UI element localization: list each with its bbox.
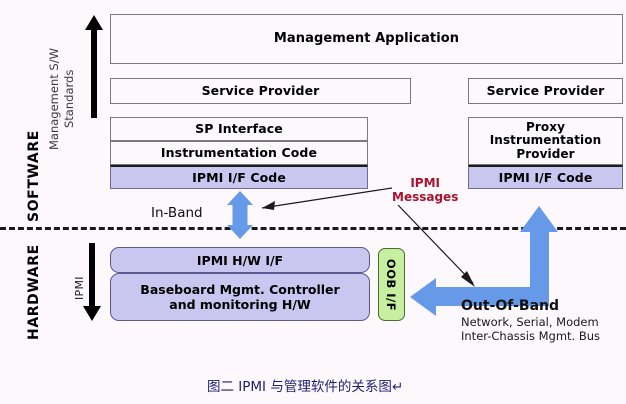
section-label-hardware: HARDWARE — [26, 244, 42, 340]
label-ipmi-messages: IPMI Messages — [392, 176, 458, 204]
axis-label-management-standards-line2: Standards — [63, 70, 76, 128]
box-ipmi-hw-if: IPMI H/W I/F — [110, 247, 370, 273]
proxy-line-3: Provider — [516, 148, 574, 161]
ipmi-direction-arrow-icon — [83, 243, 101, 321]
box-right-service-provider: Service Provider — [468, 78, 623, 104]
section-label-software: SOFTWARE — [26, 130, 42, 222]
label-out-of-band-details: Network, Serial, Modem Inter-Chassis Mgm… — [461, 315, 600, 343]
box-management-application: Management Application — [110, 14, 623, 64]
figure-caption: 图二 IPMI 与管理软件的关系图↵ — [207, 375, 403, 395]
out-of-band-line-2: Inter-Chassis Mgmt. Bus — [461, 329, 600, 343]
proxy-line-2: Instrumentation — [490, 134, 602, 147]
box-right-ipmi-if-code: IPMI I/F Code — [468, 165, 623, 189]
ipmi-messages-line-1: IPMI — [392, 176, 458, 190]
bmc-line-1: Baseboard Mgmt. Controller — [140, 282, 339, 297]
out-of-band-line-1: Network, Serial, Modem — [461, 315, 600, 329]
box-sp-interface: SP Interface — [110, 117, 368, 141]
box-instrumentation-code: Instrumentation Code — [110, 141, 368, 165]
ipmi-messages-connector-in-band — [248, 186, 393, 212]
box-baseboard-mgmt-controller: Baseboard Mgmt. Controller and monitorin… — [110, 273, 370, 321]
ipmi-architecture-diagram: SOFTWARE HARDWARE Management S/W Standar… — [0, 0, 626, 404]
box-proxy-instrumentation-provider: Proxy Instrumentation Provider — [468, 117, 623, 165]
ipmi-messages-connector-out-of-band — [395, 203, 485, 293]
proxy-line-1: Proxy — [526, 121, 565, 134]
ipmi-messages-line-2: Messages — [392, 190, 458, 204]
axis-label-management-standards-line1: Management S/W — [48, 48, 61, 150]
label-in-band: In-Band — [151, 205, 203, 221]
management-standards-arrow-icon — [85, 15, 103, 118]
box-left-service-provider: Service Provider — [110, 78, 411, 104]
label-out-of-band-title: Out-Of-Band — [461, 298, 559, 314]
bmc-line-2: and monitoring H/W — [169, 297, 310, 312]
